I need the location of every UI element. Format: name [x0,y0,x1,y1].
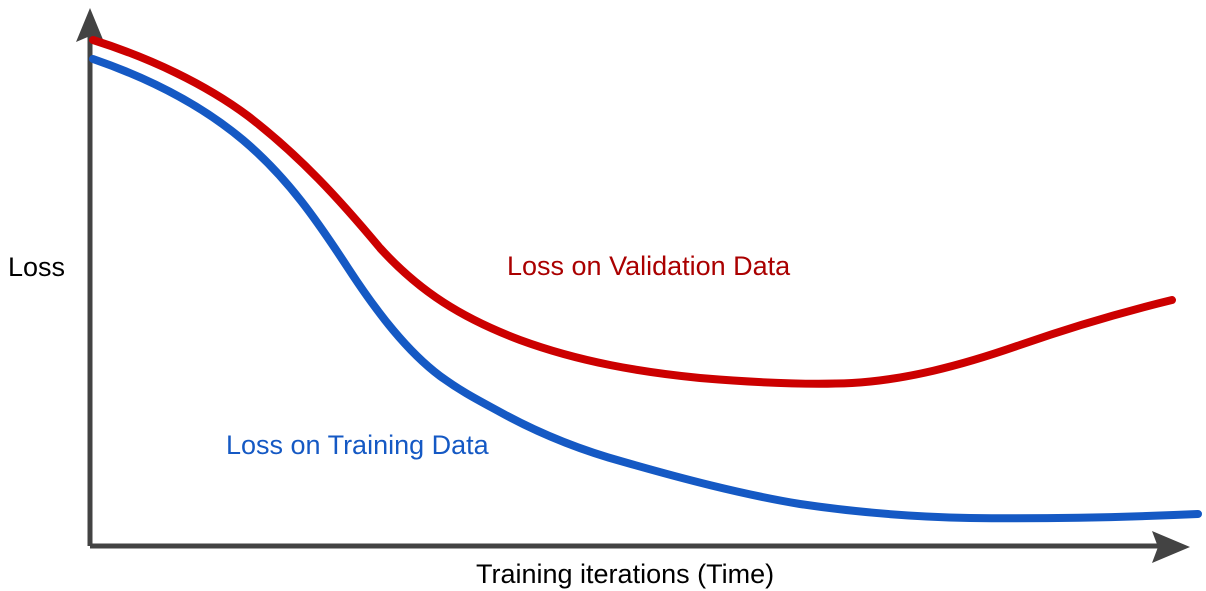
validation-loss-curve [93,40,1172,384]
training-series-annotation: Loss on Training Data [226,430,490,460]
loss-curve-chart: Loss Training iterations (Time) Loss on … [0,0,1206,591]
y-axis-label: Loss [8,252,65,282]
x-axis-label: Training iterations (Time) [476,559,774,589]
chart-canvas: Loss Training iterations (Time) Loss on … [0,0,1206,591]
validation-series-annotation: Loss on Validation Data [507,251,791,281]
